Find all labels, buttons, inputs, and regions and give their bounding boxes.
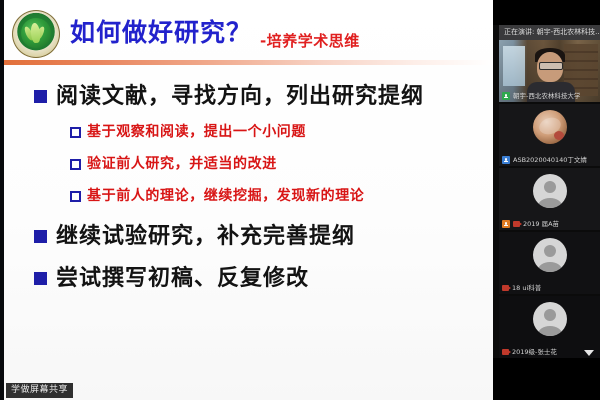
sub-bullet-item-3: 基于前人的理论，继续挖掘，发现新的理论 [70, 186, 364, 207]
participant-namebar: 18 ui科普 [499, 282, 600, 294]
bullet-marker-filled-square [34, 90, 47, 103]
participant-rail[interactable]: 正在演讲: 朝宇-西北农林科技... 朝宇-西北农林科技大学 [493, 0, 600, 400]
active-speaker-label: 正在演讲: 朝宇-西北农林科技... [504, 28, 600, 37]
sub-bullet-item-2: 验证前人研究，并适当的改进 [70, 154, 277, 175]
participant-namebar: ASB2020040140丁文婧 [499, 154, 600, 166]
camera-off-icon[interactable] [502, 285, 509, 291]
rail-top-filler [493, 0, 600, 25]
participant-tile[interactable]: 18 ui科普 [499, 232, 600, 294]
bullet-text: 尝试撰写初稿、反复修改 [56, 264, 309, 294]
meeting-screen-share-view: 如何做好研究？ -培养学术思维 阅读文献，寻找方向，列出研究提纲 基于观察和阅读… [0, 0, 600, 400]
participant-name: 2019 届A苗 [523, 220, 559, 228]
participant-tile[interactable]: 朝宇-西北农林科技大学 [499, 40, 600, 102]
participant-name: 朝宇-西北农林科技大学 [513, 92, 580, 100]
microphone-icon[interactable] [502, 156, 510, 164]
sub-bullet-text: 基于观察和阅读，提出一个小问题 [87, 122, 306, 143]
sub-bullet-text: 验证前人研究，并适当的改进 [87, 154, 277, 175]
university-logo-icon [12, 10, 60, 58]
slide-header: 如何做好研究？ -培养学术思维 [4, 4, 493, 60]
bullet-marker-filled-square [34, 272, 47, 285]
bullet-marker-hollow-square [70, 191, 81, 202]
microphone-icon[interactable] [502, 220, 510, 228]
page-subtitle: -培养学术思维 [260, 32, 360, 50]
bullet-marker-hollow-square [70, 127, 81, 138]
bullet-marker-filled-square [34, 230, 47, 243]
bullet-text: 阅读文献，寻找方向，列出研究提纲 [56, 82, 424, 112]
participant-tile[interactable]: 2019 届A苗 [499, 168, 600, 230]
person-glasses [539, 62, 563, 70]
participant-name: 2019级-张士花 [512, 348, 557, 356]
bullet-item-3: 尝试撰写初稿、反复修改 [34, 264, 309, 294]
avatar [533, 238, 567, 272]
participant-namebar: 朝宇-西北农林科技大学 [499, 90, 600, 102]
slide-body: 阅读文献，寻找方向，列出研究提纲 基于观察和阅读，提出一个小问题 验证前人研究，… [4, 70, 493, 370]
participant-name: 18 ui科普 [512, 284, 541, 292]
screen-share-indicator: 学做屏幕共享 [6, 383, 73, 398]
bullet-item-1: 阅读文献，寻找方向，列出研究提纲 [34, 82, 424, 112]
avatar-head [544, 181, 556, 193]
camera-off-icon[interactable] [502, 349, 509, 355]
sub-bullet-text: 基于前人的理论，继续挖掘，发现新的理论 [87, 186, 364, 207]
chevron-down-icon[interactable] [584, 350, 594, 356]
avatar-accent [554, 131, 564, 140]
active-speaker-banner: 正在演讲: 朝宇-西北农林科技... [499, 25, 600, 40]
sub-bullet-item-1: 基于观察和阅读，提出一个小问题 [70, 122, 306, 143]
microphone-icon[interactable] [502, 92, 510, 100]
bullet-text: 继续试验研究，补充完善提纲 [56, 222, 355, 252]
participant-tile[interactable]: ASB2020040140丁文婧 [499, 104, 600, 166]
rail-bottom-filler [493, 358, 600, 400]
page-title: 如何做好研究？ [70, 18, 252, 48]
bullet-marker-hollow-square [70, 159, 81, 170]
participant-namebar: 2019 届A苗 [499, 218, 600, 230]
avatar-body [538, 262, 562, 272]
shared-slide: 如何做好研究？ -培养学术思维 阅读文献，寻找方向，列出研究提纲 基于观察和阅读… [4, 0, 493, 400]
participant-name: ASB2020040140丁文婧 [513, 156, 587, 164]
header-divider [4, 60, 493, 65]
avatar-body [538, 326, 562, 336]
avatar [533, 110, 567, 144]
avatar [533, 174, 567, 208]
camera-off-icon[interactable] [513, 221, 520, 227]
background-window [503, 46, 525, 86]
avatar [533, 302, 567, 336]
bullet-item-2: 继续试验研究，补充完善提纲 [34, 222, 355, 252]
avatar-head [544, 245, 556, 257]
avatar-head [544, 309, 556, 321]
avatar-body [538, 198, 562, 208]
participant-tile[interactable]: 2019级-张士花 [499, 296, 600, 358]
